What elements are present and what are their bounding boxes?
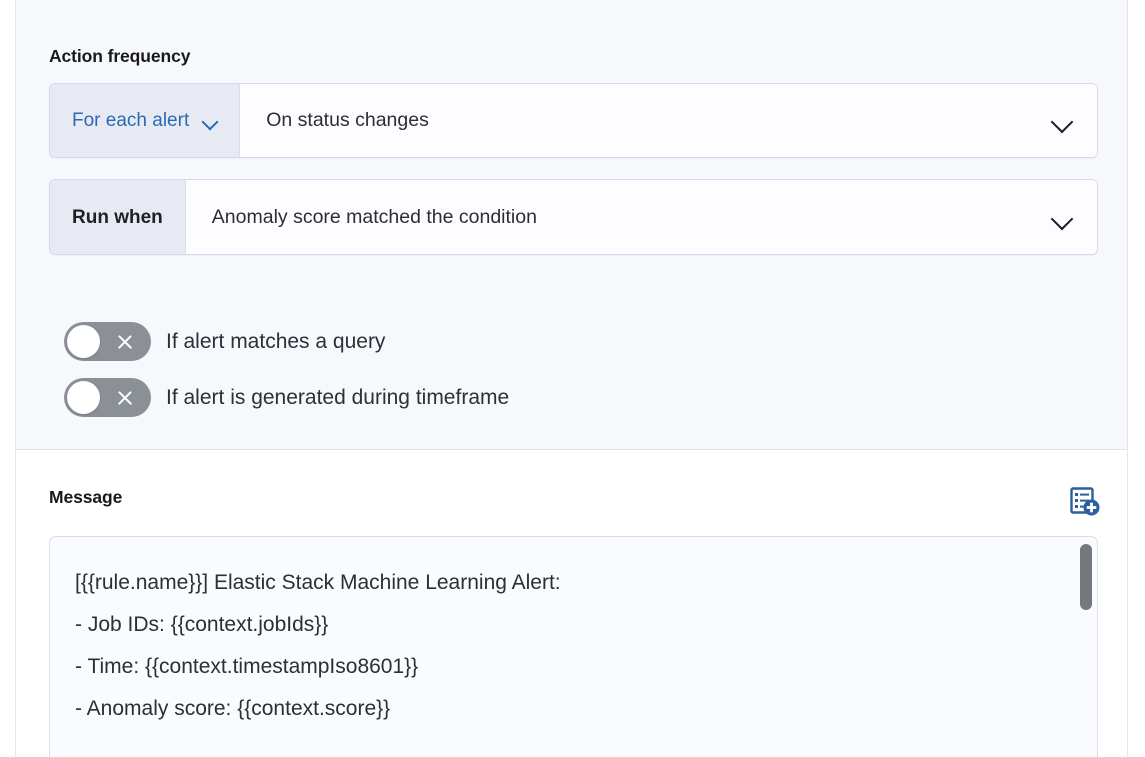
- message-textarea[interactable]: [75, 562, 1055, 757]
- status-changes-select[interactable]: On status changes: [240, 84, 1097, 157]
- run-when-prepend: Run when: [50, 180, 186, 254]
- chevron-down-icon: [202, 116, 217, 125]
- message-title: Message: [49, 487, 122, 508]
- run-when-combo[interactable]: Run when Anomaly score matched the condi…: [49, 179, 1098, 255]
- action-frequency-combo[interactable]: For each alert On status changes: [49, 83, 1098, 158]
- close-x-icon: [116, 389, 134, 407]
- alert-timeframe-label: If alert is generated during timeframe: [166, 386, 509, 410]
- toggle-knob: [67, 381, 100, 414]
- for-each-alert-dropdown[interactable]: For each alert: [50, 84, 240, 157]
- alert-matches-query-label: If alert matches a query: [166, 330, 385, 354]
- chevron-down-icon: [1051, 114, 1073, 127]
- message-scrollbar-thumb[interactable]: [1080, 544, 1092, 610]
- run-when-value: Anomaly score matched the condition: [212, 206, 537, 229]
- run-when-label: Run when: [72, 208, 163, 227]
- add-variable-icon[interactable]: [1068, 486, 1102, 518]
- alert-timeframe-row: If alert is generated during timeframe: [64, 378, 509, 417]
- alert-matches-query-row: If alert matches a query: [64, 322, 385, 361]
- message-textarea-wrapper: [49, 536, 1098, 757]
- status-changes-value: On status changes: [266, 109, 429, 132]
- screen-root: Action frequency For each alert On statu…: [0, 0, 1145, 757]
- action-frequency-section: Action frequency For each alert On statu…: [16, 0, 1127, 450]
- chevron-down-icon: [1051, 211, 1073, 224]
- run-when-select[interactable]: Anomaly score matched the condition: [186, 180, 1097, 254]
- message-scrollbar[interactable]: [1079, 540, 1093, 757]
- alert-timeframe-toggle[interactable]: [64, 378, 151, 417]
- alert-matches-query-toggle[interactable]: [64, 322, 151, 361]
- toggle-knob: [67, 325, 100, 358]
- message-section: Message: [16, 451, 1127, 757]
- settings-panel: Action frequency For each alert On statu…: [15, 0, 1128, 757]
- page-title: Action frequency: [49, 46, 190, 67]
- for-each-alert-label: For each alert: [72, 111, 189, 130]
- close-x-icon: [116, 333, 134, 351]
